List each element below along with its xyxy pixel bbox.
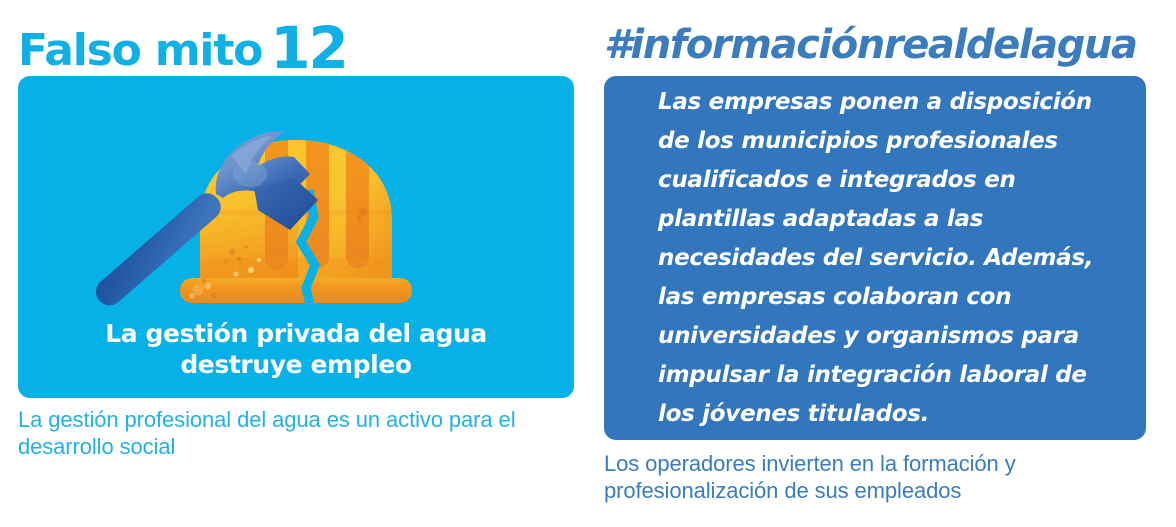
myth-card: La gestión privada del agua destruye emp… [18,76,574,398]
fact-column: #informaciónrealdelagua Las empresas pon… [604,14,1146,504]
fact-card: Las empresas ponen a disposición de los … [604,76,1146,440]
myth-heading-number: 12 [270,14,347,82]
fact-card-body: Las empresas ponen a disposición de los … [658,83,1100,434]
broken-hard-hat-with-hammer-icon [18,82,574,317]
myth-footer-note: La gestión profesional del agua es un ac… [18,398,574,460]
myth-heading: Falso mito12 [18,14,574,76]
hard-hat-brim [180,278,412,303]
infographic-page: Falso mito12 [0,0,1176,527]
myth-column: Falso mito12 [18,14,574,460]
myth-heading-label: Falso mito [18,25,262,76]
myth-card-title: La gestión privada del agua destruye emp… [18,318,574,380]
campaign-hashtag-heading: #informaciónrealdelagua [604,14,1146,76]
fact-footer-note: Los operadores invierten en la formación… [604,440,1146,504]
